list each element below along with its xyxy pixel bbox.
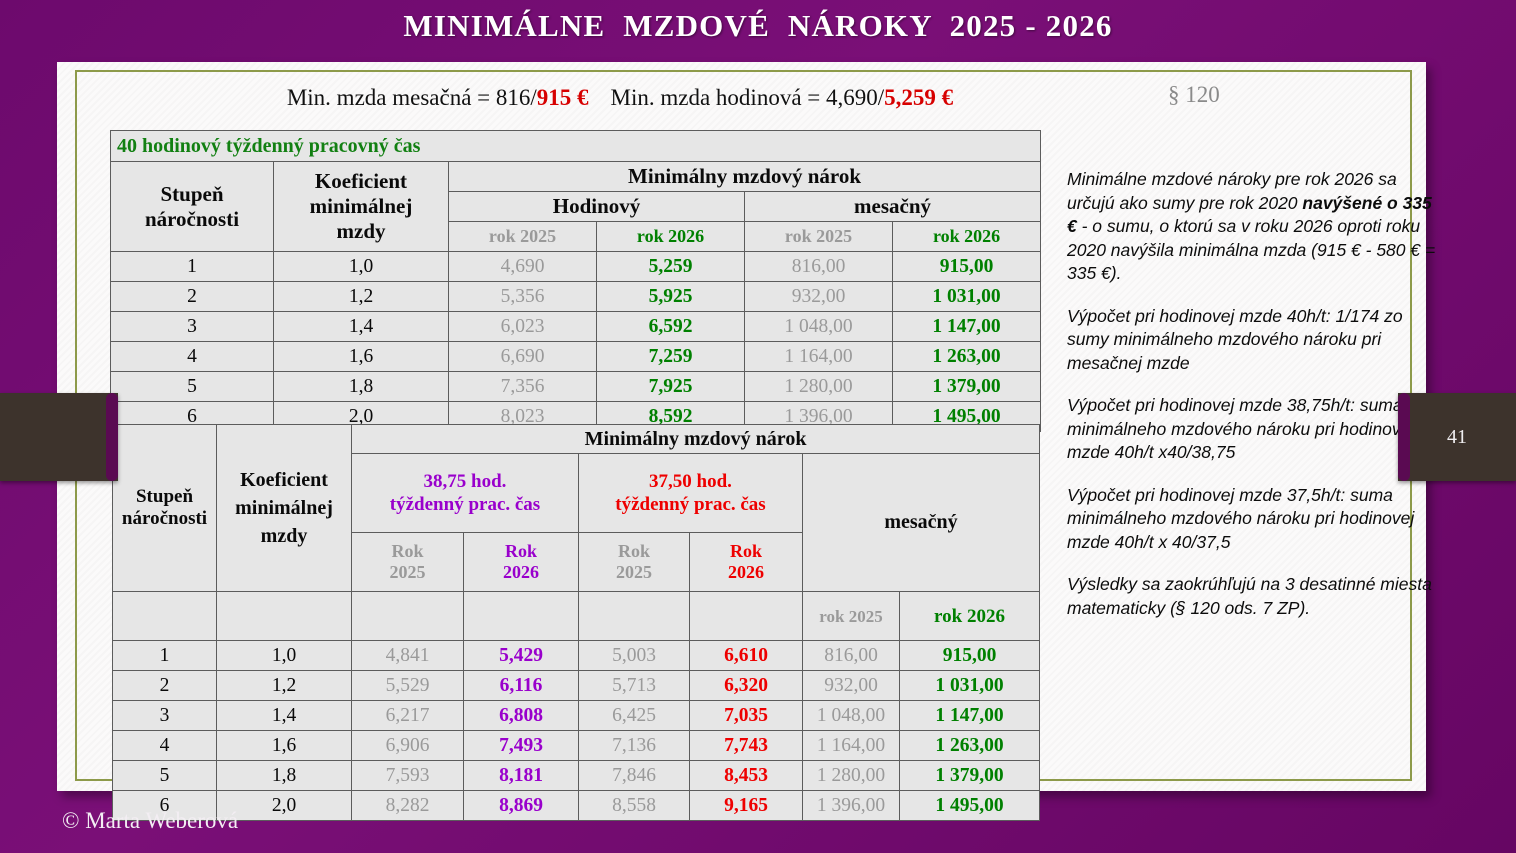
- monthly-wage-label: Min. mzda mesačná =: [287, 85, 496, 110]
- note-calc-40h: Výpočet pri hodinovej mzde 40h/t: 1/174 …: [1067, 305, 1442, 376]
- t2-r4-stupen: 5: [113, 761, 217, 791]
- monthly-wage-old: 816/: [496, 85, 537, 110]
- note-rounding: Výsledky sa zaokrúhľujú na 3 desatinné m…: [1067, 573, 1442, 620]
- table2-group-3750: 37,50 hod. týždenný prac. čas: [579, 454, 803, 533]
- t2-r5-b2025: 8,558: [579, 791, 690, 821]
- copyright-footer: © Marta Weberová: [62, 808, 238, 834]
- t1-r2-koef: 1,4: [274, 312, 449, 342]
- note-calc-375h: Výpočet pri hodinovej mzde 37,5h/t: suma…: [1067, 484, 1442, 555]
- explanatory-notes: Minimálne mzdové nároky pre rok 2026 sa …: [1067, 168, 1442, 639]
- t2-r2-stupen: 3: [113, 701, 217, 731]
- table-row: 1 1,0 4,690 5,259 816,00 915,00: [111, 252, 1041, 282]
- t1-r1-h2026: 5,925: [597, 282, 745, 312]
- minimum-wage-subtitle: Min. mzda mesačná = 816/915 €Min. mzda h…: [180, 85, 1060, 111]
- table-40h-week: 40 hodinový týždenný pracovný čas Stupeň…: [110, 130, 1041, 432]
- table2-monthly-2025: rok 2025: [803, 592, 900, 641]
- table2-col-stupen: Stupeň náročnosti: [113, 425, 217, 592]
- t1-r3-koef: 1,6: [274, 342, 449, 372]
- t1-r4-m2026: 1 379,00: [893, 372, 1041, 402]
- t1-r3-m2026: 1 263,00: [893, 342, 1041, 372]
- t1-r0-koef: 1,0: [274, 252, 449, 282]
- table-row: 2 1,2 5,356 5,925 932,00 1 031,00: [111, 282, 1041, 312]
- t2-r2-m2026: 1 147,00: [900, 701, 1040, 731]
- table2-group-narok: Minimálny mzdový nárok: [352, 425, 1040, 454]
- table1-group-narok: Minimálny mzdový nárok: [449, 162, 1041, 192]
- t2-r1-b2025: 5,713: [579, 671, 690, 701]
- t2-r4-m2025: 1 280,00: [803, 761, 900, 791]
- t2-r3-a2025: 6,906: [352, 731, 464, 761]
- table1-group-mesacny: mesačný: [745, 192, 1041, 222]
- t1-r1-h2025: 5,356: [449, 282, 597, 312]
- table-row: 4 1,6 6,690 7,259 1 164,00 1 263,00: [111, 342, 1041, 372]
- t2-r4-koef: 1,8: [217, 761, 352, 791]
- t1-r4-m2025: 1 280,00: [745, 372, 893, 402]
- table2-3875-2026: Rok 2026: [464, 533, 579, 592]
- t1-r0-m2026: 915,00: [893, 252, 1041, 282]
- t1-r4-koef: 1,8: [274, 372, 449, 402]
- table-3875-3750-week: Stupeň náročnosti Koeficient minimálnej …: [112, 424, 1040, 821]
- t2-r3-stupen: 4: [113, 731, 217, 761]
- table-row: 5 1,8 7,356 7,925 1 280,00 1 379,00: [111, 372, 1041, 402]
- table2-3750-2025: Rok 2025: [579, 533, 690, 592]
- table1-col-koeficient: Koeficient minimálnej mzdy: [274, 162, 449, 252]
- t2-r1-b2026: 6,320: [690, 671, 803, 701]
- t1-r1-stupen: 2: [111, 282, 274, 312]
- t2-r4-b2025: 7,846: [579, 761, 690, 791]
- t2-r2-m2025: 1 048,00: [803, 701, 900, 731]
- t2-r4-a2026: 8,181: [464, 761, 579, 791]
- t1-r0-h2025: 4,690: [449, 252, 597, 282]
- t1-r2-stupen: 3: [111, 312, 274, 342]
- t2-r0-m2026: 915,00: [900, 641, 1040, 671]
- table1-monthly-2026: rok 2026: [893, 222, 1041, 252]
- t2-r4-m2026: 1 379,00: [900, 761, 1040, 791]
- t1-r2-h2025: 6,023: [449, 312, 597, 342]
- t2-r4-a2025: 7,593: [352, 761, 464, 791]
- t1-r4-h2025: 7,356: [449, 372, 597, 402]
- page-number: 41: [1398, 393, 1516, 481]
- table1-monthly-2025: rok 2025: [745, 222, 893, 252]
- t1-r3-m2025: 1 164,00: [745, 342, 893, 372]
- t2-r1-a2025: 5,529: [352, 671, 464, 701]
- t2-r2-a2025: 6,217: [352, 701, 464, 731]
- t2-r1-a2026: 6,116: [464, 671, 579, 701]
- table1-hourly-2025: rok 2025: [449, 222, 597, 252]
- t2-r2-koef: 1,4: [217, 701, 352, 731]
- t2-r2-b2026: 7,035: [690, 701, 803, 731]
- table1-group-hodinovy: Hodinový: [449, 192, 745, 222]
- t2-r1-koef: 1,2: [217, 671, 352, 701]
- t2-r0-a2026: 5,429: [464, 641, 579, 671]
- t2-r0-m2025: 816,00: [803, 641, 900, 671]
- hourly-wage-new: 5,259 €: [884, 85, 953, 110]
- t1-r1-m2025: 932,00: [745, 282, 893, 312]
- t2-r1-stupen: 2: [113, 671, 217, 701]
- t2-r5-b2026: 9,165: [690, 791, 803, 821]
- t2-r3-b2025: 7,136: [579, 731, 690, 761]
- table1-hourly-2026: rok 2026: [597, 222, 745, 252]
- t1-r3-stupen: 4: [111, 342, 274, 372]
- t1-r2-m2026: 1 147,00: [893, 312, 1041, 342]
- t2-r5-a2025: 8,282: [352, 791, 464, 821]
- t1-r1-koef: 1,2: [274, 282, 449, 312]
- t1-r3-h2026: 7,259: [597, 342, 745, 372]
- t1-r2-h2026: 6,592: [597, 312, 745, 342]
- left-ribbon-decoration: [0, 393, 118, 481]
- t2-r0-stupen: 1: [113, 641, 217, 671]
- t2-r5-a2026: 8,869: [464, 791, 579, 821]
- t2-r4-b2026: 8,453: [690, 761, 803, 791]
- note-increase: Minimálne mzdové nároky pre rok 2026 sa …: [1067, 168, 1442, 286]
- table2-col-koeficient: Koeficient minimálnej mzdy: [217, 425, 352, 592]
- page-title: MINIMÁLNE MZDOVÉ NÁROKY 2025 - 2026: [0, 8, 1516, 56]
- table-row: 1 1,0 4,841 5,429 5,003 6,610 816,00 915…: [113, 641, 1040, 671]
- table2-header-row-1: Stupeň náročnosti Koeficient minimálnej …: [113, 425, 1040, 454]
- table2-3750-2026: Rok 2026: [690, 533, 803, 592]
- table-row: 2 1,2 5,529 6,116 5,713 6,320 932,00 1 0…: [113, 671, 1040, 701]
- table2-3875-2025: Rok 2025: [352, 533, 464, 592]
- table-row: 3 1,4 6,023 6,592 1 048,00 1 147,00: [111, 312, 1041, 342]
- t1-r4-stupen: 5: [111, 372, 274, 402]
- t2-r3-b2026: 7,743: [690, 731, 803, 761]
- t1-r0-stupen: 1: [111, 252, 274, 282]
- t2-r1-m2025: 932,00: [803, 671, 900, 701]
- table-row: 6 2,0 8,282 8,869 8,558 9,165 1 396,00 1…: [113, 791, 1040, 821]
- t2-r0-a2025: 4,841: [352, 641, 464, 671]
- t1-r0-m2025: 816,00: [745, 252, 893, 282]
- t2-r3-m2025: 1 164,00: [803, 731, 900, 761]
- t2-r5-m2026: 1 495,00: [900, 791, 1040, 821]
- t2-r0-b2025: 5,003: [579, 641, 690, 671]
- note-calc-3875h: Výpočet pri hodinovej mzde 38,75h/t: sum…: [1067, 394, 1442, 465]
- table2-header-row-4: rok 2025 rok 2026: [113, 592, 1040, 641]
- table1-col-stupen: Stupeň náročnosti: [111, 162, 274, 252]
- t1-r1-m2026: 1 031,00: [893, 282, 1041, 312]
- left-ribbon-cap: [106, 393, 118, 481]
- t1-r0-h2026: 5,259: [597, 252, 745, 282]
- t2-r2-b2025: 6,425: [579, 701, 690, 731]
- table1-caption: 40 hodinový týždenný pracovný čas: [111, 131, 1041, 162]
- table2-monthly-2026: rok 2026: [900, 592, 1040, 641]
- table1-header-row-1: Stupeň náročnosti Koeficient minimálnej …: [111, 162, 1041, 192]
- t2-r2-a2026: 6,808: [464, 701, 579, 731]
- t2-r0-b2026: 6,610: [690, 641, 803, 671]
- table2-group-mesacny: mesačný: [803, 454, 1040, 592]
- table2-group-3875: 38,75 hod. týždenný prac. čas: [352, 454, 579, 533]
- t2-r1-m2026: 1 031,00: [900, 671, 1040, 701]
- t1-r2-m2025: 1 048,00: [745, 312, 893, 342]
- monthly-wage-new: 915 €: [537, 85, 589, 110]
- t2-r3-a2026: 7,493: [464, 731, 579, 761]
- t2-r0-koef: 1,0: [217, 641, 352, 671]
- table-row: 3 1,4 6,217 6,808 6,425 7,035 1 048,00 1…: [113, 701, 1040, 731]
- t2-r3-koef: 1,6: [217, 731, 352, 761]
- hourly-wage-old: 4,690/: [826, 85, 884, 110]
- t2-r3-m2026: 1 263,00: [900, 731, 1040, 761]
- table-row: 5 1,8 7,593 8,181 7,846 8,453 1 280,00 1…: [113, 761, 1040, 791]
- t1-r3-h2025: 6,690: [449, 342, 597, 372]
- paragraph-reference: § 120: [1168, 82, 1220, 108]
- hourly-wage-label: Min. mzda hodinová =: [611, 85, 826, 110]
- table-row: 4 1,6 6,906 7,493 7,136 7,743 1 164,00 1…: [113, 731, 1040, 761]
- table1-caption-row: 40 hodinový týždenný pracovný čas: [111, 131, 1041, 162]
- t2-r5-m2025: 1 396,00: [803, 791, 900, 821]
- t1-r4-h2026: 7,925: [597, 372, 745, 402]
